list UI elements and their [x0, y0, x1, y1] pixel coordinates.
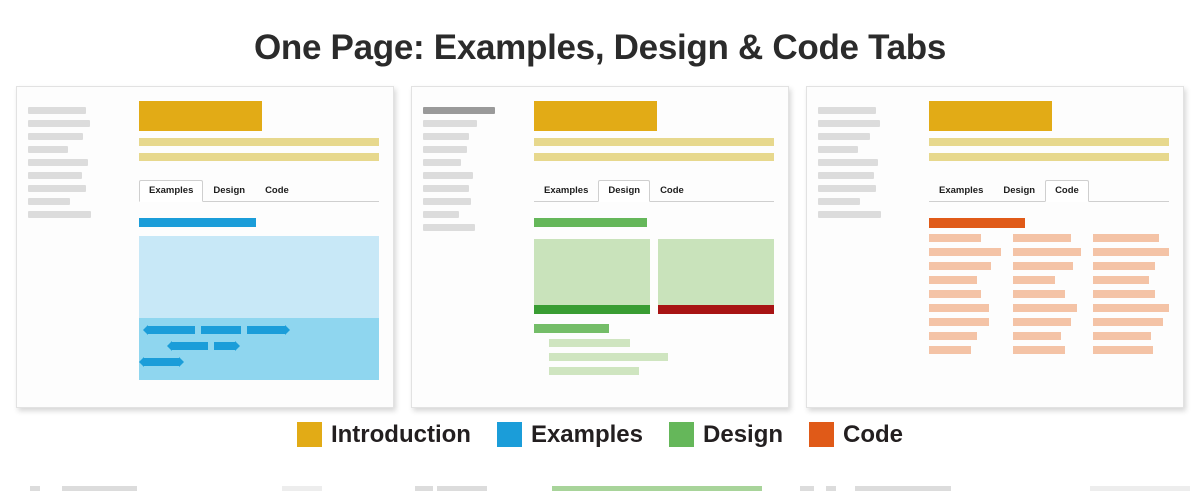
tab-code[interactable]: Code — [255, 180, 299, 201]
sidebar-bar — [423, 146, 467, 153]
legend-item: Code — [809, 422, 903, 447]
sidebar-bar — [28, 185, 86, 192]
code-listing-line — [929, 290, 981, 298]
code-listing-line — [1013, 248, 1081, 256]
design-card: ExamplesDesignCode — [411, 86, 789, 408]
main-column: ExamplesDesignCode — [139, 101, 379, 380]
bottom-strip-fragment — [800, 486, 814, 491]
bottom-strip-fragment — [30, 486, 40, 491]
main-column: ExamplesDesignCode — [929, 101, 1169, 360]
code-listing-line — [1093, 332, 1151, 340]
sidebar-bar — [423, 107, 495, 114]
tab-list: ExamplesDesignCode — [139, 179, 379, 201]
sidebar-bar — [28, 133, 83, 140]
sidebar-bar — [818, 211, 881, 218]
code-listing-column — [1093, 234, 1169, 360]
legend-label: Code — [843, 422, 903, 447]
legend-item: Examples — [497, 422, 643, 447]
code-listing-line — [1013, 290, 1065, 298]
sidebar-bar — [28, 211, 91, 218]
legend-swatch-examples — [497, 422, 522, 447]
legend-item: Introduction — [297, 422, 471, 447]
page-title: One Page: Examples, Design & Code Tabs — [0, 0, 1200, 72]
examples-code-segment — [148, 326, 195, 334]
design-preview-box — [534, 239, 650, 314]
code-listing-line — [929, 262, 991, 270]
code-listing-grid — [929, 234, 1169, 360]
legend-swatch-code — [809, 422, 834, 447]
code-listing-line — [929, 276, 977, 284]
bottom-strip-fragment — [282, 486, 322, 491]
bottom-strip-fragment — [552, 486, 762, 491]
sidebar — [28, 107, 100, 224]
sidebar-bar — [818, 185, 876, 192]
sidebar — [818, 107, 890, 224]
code-listing-line — [1093, 290, 1155, 298]
tab-design[interactable]: Design — [203, 180, 255, 201]
sidebar-bar — [818, 159, 878, 166]
examples-code-segment — [172, 342, 208, 350]
tab-bar: ExamplesDesignCode — [139, 179, 379, 202]
code-listing-line — [1013, 346, 1065, 354]
code-listing-line — [1013, 276, 1055, 284]
design-heading-bar — [534, 218, 647, 227]
bottom-strip-fragment — [437, 486, 487, 491]
sidebar-bar — [423, 172, 473, 179]
examples-code-line — [167, 342, 240, 350]
legend-item: Design — [669, 422, 783, 447]
legend-label: Design — [703, 422, 783, 447]
examples-code-line — [139, 358, 184, 366]
code-listing-line — [1093, 276, 1149, 284]
arrow-right-icon — [179, 357, 184, 367]
examples-code-segment — [214, 342, 235, 350]
design-subheading-bar — [534, 324, 609, 333]
sidebar-bar — [28, 120, 90, 127]
sidebar-bar — [423, 120, 477, 127]
sidebar-bar — [28, 159, 88, 166]
introduction-text-line — [139, 153, 379, 161]
sidebar-bar — [423, 224, 475, 231]
code-listing-line — [929, 318, 989, 326]
legend-swatch-design — [669, 422, 694, 447]
tab-examples[interactable]: Examples — [929, 180, 993, 201]
code-listing-line — [929, 248, 1001, 256]
sidebar-bar — [818, 107, 876, 114]
code-listing-line — [1013, 262, 1073, 270]
legend: IntroductionExamplesDesignCode — [0, 422, 1200, 447]
code-listing-line — [1093, 304, 1169, 312]
arrow-right-icon — [285, 325, 290, 335]
sidebar-bar — [423, 185, 469, 192]
code-listing-line — [1093, 346, 1153, 354]
introduction-text-line — [139, 138, 379, 146]
code-listing-column — [929, 234, 1001, 360]
design-text-line — [549, 367, 639, 375]
bottom-strip-fragment — [1090, 486, 1190, 491]
introduction-header-block — [139, 101, 262, 131]
examples-preview-panel — [139, 236, 379, 380]
examples-code-segment — [201, 326, 241, 334]
code-listing-line — [1093, 248, 1169, 256]
bottom-strip-fragment — [62, 486, 137, 491]
code-listing-line — [929, 332, 977, 340]
tab-code[interactable]: Code — [1045, 180, 1089, 202]
sidebar-bar — [28, 172, 82, 179]
design-text-line — [549, 353, 668, 361]
sidebar-bar — [423, 159, 461, 166]
code-listing-line — [1013, 234, 1071, 242]
sidebar-bar — [423, 133, 469, 140]
tab-list: ExamplesDesignCode — [929, 179, 1169, 201]
code-heading-bar — [929, 218, 1025, 228]
code-listing-line — [929, 304, 989, 312]
main-column: ExamplesDesignCode — [534, 101, 774, 375]
sidebar-bar — [818, 172, 874, 179]
tab-bar: ExamplesDesignCode — [534, 179, 774, 202]
introduction-header-block — [534, 101, 657, 131]
examples-code-band — [139, 318, 379, 380]
design-box-footer-error — [658, 305, 774, 314]
code-listing-line — [1093, 262, 1155, 270]
introduction-text-line — [929, 138, 1169, 146]
legend-label: Introduction — [331, 422, 471, 447]
examples-code-line — [143, 326, 290, 334]
bottom-strip-fragment — [415, 486, 433, 491]
sidebar-bar — [28, 146, 68, 153]
code-listing-line — [1013, 318, 1071, 326]
design-text-line — [549, 339, 630, 347]
examples-heading-bar — [139, 218, 256, 227]
code-listing-line — [1013, 332, 1061, 340]
introduction-text-line — [534, 138, 774, 146]
design-box-footer-ok — [534, 305, 650, 314]
legend-label: Examples — [531, 422, 643, 447]
sidebar-bar — [28, 107, 86, 114]
code-listing-line — [1093, 234, 1159, 242]
examples-card: ExamplesDesignCode — [16, 86, 394, 408]
sidebar-bar — [818, 146, 858, 153]
tab-bar: ExamplesDesignCode — [929, 179, 1169, 202]
design-preview-box — [658, 239, 774, 314]
examples-code-segment — [247, 326, 285, 334]
sidebar-bar — [423, 198, 471, 205]
bottom-cutoff-strip — [0, 483, 1200, 493]
code-listing-line — [1013, 304, 1077, 312]
design-box-row — [534, 239, 774, 314]
tab-code[interactable]: Code — [650, 180, 694, 201]
legend-swatch-introduction — [297, 422, 322, 447]
tab-examples[interactable]: Examples — [534, 180, 598, 201]
bottom-strip-fragment — [855, 486, 951, 491]
bottom-strip-fragment — [826, 486, 836, 491]
code-card: ExamplesDesignCode — [806, 86, 1184, 408]
cards-row: ExamplesDesignCodeExamplesDesignCodeExam… — [0, 86, 1200, 408]
sidebar-bar — [818, 133, 870, 140]
arrow-right-icon — [235, 341, 240, 351]
sidebar-bar — [423, 211, 459, 218]
introduction-header-block — [929, 101, 1052, 131]
tab-examples[interactable]: Examples — [139, 180, 203, 202]
code-listing-line — [1093, 318, 1163, 326]
tab-list: ExamplesDesignCode — [534, 179, 774, 201]
tab-design[interactable]: Design — [993, 180, 1045, 201]
introduction-text-line — [929, 153, 1169, 161]
code-listing-column — [1013, 234, 1081, 360]
tab-design[interactable]: Design — [598, 180, 650, 202]
sidebar-bar — [818, 198, 860, 205]
introduction-text-line — [534, 153, 774, 161]
code-listing-line — [929, 346, 971, 354]
code-listing-line — [929, 234, 981, 242]
sidebar-bar — [818, 120, 880, 127]
sidebar-bar — [28, 198, 70, 205]
examples-code-segment — [144, 358, 179, 366]
sidebar — [423, 107, 495, 237]
